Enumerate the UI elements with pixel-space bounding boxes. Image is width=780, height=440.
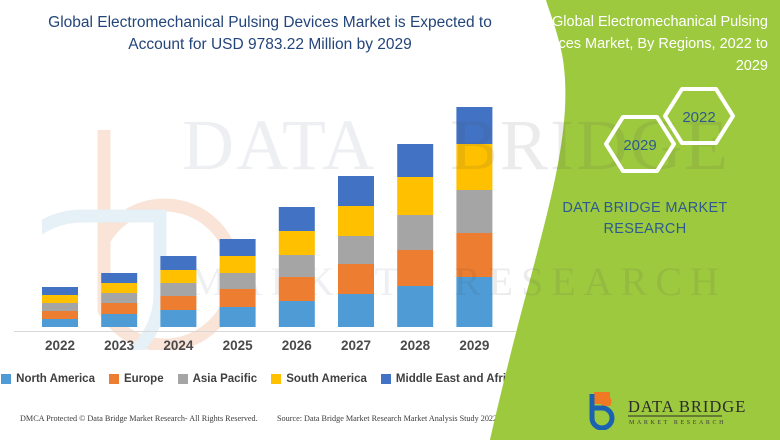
- x-axis-line: [14, 331, 516, 332]
- bar-segment-north-america[interactable]: [279, 301, 315, 327]
- footer: DMCA Protected © Data Bridge Market Rese…: [0, 414, 520, 432]
- chart-panel: Global Electromechanical Pulsing Devices…: [0, 0, 545, 440]
- legend-item-asia-pacific[interactable]: Asia Pacific: [178, 373, 258, 385]
- bar-segment-south-america[interactable]: [279, 231, 315, 255]
- bar-2027[interactable]: [338, 176, 374, 327]
- bar-segment-middle-east-and-africa[interactable]: [397, 144, 433, 177]
- bar-segment-europe[interactable]: [220, 289, 256, 307]
- legend-swatch-icon: [1, 374, 11, 384]
- logo-name-text: DATA BRIDGE: [628, 397, 746, 416]
- footer-source-text: Source: Data Bridge Market Research Mark…: [277, 414, 497, 423]
- legend-swatch-icon: [178, 374, 188, 384]
- x-tick-label-2022: 2022: [30, 338, 90, 353]
- bar-segment-north-america[interactable]: [160, 310, 196, 327]
- watermark-research-text: RESEARCH: [454, 258, 727, 305]
- stacked-bar-chart: 20222023202420252026202720282029: [0, 95, 545, 345]
- bar-segment-middle-east-and-africa[interactable]: [338, 176, 374, 206]
- legend-label: South America: [286, 373, 367, 385]
- x-tick-label-2023: 2023: [89, 338, 149, 353]
- hexagon-2022-label: 2022: [682, 109, 715, 126]
- bar-2022[interactable]: [42, 287, 78, 327]
- bar-segment-middle-east-and-africa[interactable]: [456, 107, 492, 144]
- legend-item-south-america[interactable]: South America: [271, 373, 367, 385]
- x-tick-label-2028: 2028: [385, 338, 445, 353]
- legend-swatch-icon: [381, 374, 391, 384]
- bar-segment-south-america[interactable]: [397, 177, 433, 215]
- bar-segment-north-america[interactable]: [220, 307, 256, 327]
- bar-segment-north-america[interactable]: [338, 294, 374, 327]
- bar-2025[interactable]: [220, 239, 256, 327]
- bar-segment-asia-pacific[interactable]: [338, 236, 374, 264]
- legend-label: Europe: [124, 373, 164, 385]
- bar-segment-north-america[interactable]: [456, 277, 492, 327]
- legend-item-north-america[interactable]: North America: [1, 373, 95, 385]
- bar-segment-middle-east-and-africa[interactable]: [101, 273, 137, 283]
- bar-segment-asia-pacific[interactable]: [42, 303, 78, 311]
- bar-segment-asia-pacific[interactable]: [220, 273, 256, 289]
- bar-segment-middle-east-and-africa[interactable]: [42, 287, 78, 295]
- hexagon-2029-label: 2029: [623, 137, 656, 154]
- bar-2024[interactable]: [160, 256, 196, 327]
- bar-segment-europe[interactable]: [101, 303, 137, 314]
- bar-segment-south-america[interactable]: [220, 256, 256, 273]
- branding-content: BRIDGE RESEARCH Global Electromechanical…: [490, 0, 780, 440]
- legend-swatch-icon: [271, 374, 281, 384]
- bar-segment-asia-pacific[interactable]: [456, 190, 492, 233]
- x-tick-label-2024: 2024: [148, 338, 208, 353]
- chart-plot-area: [0, 95, 545, 331]
- bar-segment-europe[interactable]: [456, 233, 492, 277]
- bar-2026[interactable]: [279, 207, 315, 327]
- bar-segment-south-america[interactable]: [42, 295, 78, 303]
- bar-segment-europe[interactable]: [397, 250, 433, 286]
- bar-segment-south-america[interactable]: [101, 283, 137, 293]
- bar-segment-north-america[interactable]: [42, 319, 78, 327]
- bar-2028[interactable]: [397, 144, 433, 327]
- bar-segment-south-america[interactable]: [338, 206, 374, 236]
- page-title: Global Electromechanical Pulsing Devices…: [30, 12, 510, 57]
- x-tick-label-2027: 2027: [326, 338, 386, 353]
- x-tick-label-2026: 2026: [267, 338, 327, 353]
- bar-segment-middle-east-and-africa[interactable]: [220, 239, 256, 256]
- bar-2029[interactable]: [456, 107, 492, 327]
- footer-dmca-text: DMCA Protected © Data Bridge Market Rese…: [20, 414, 258, 423]
- bar-2023[interactable]: [101, 273, 137, 327]
- bar-segment-north-america[interactable]: [397, 286, 433, 327]
- panel-title: Global Electromechanical Pulsing Devices…: [528, 12, 768, 77]
- bar-segment-asia-pacific[interactable]: [397, 215, 433, 250]
- legend-label: North America: [16, 373, 95, 385]
- bar-segment-middle-east-and-africa[interactable]: [279, 207, 315, 231]
- legend-label: Asia Pacific: [193, 373, 258, 385]
- bar-segment-north-america[interactable]: [101, 314, 137, 327]
- bar-segment-europe[interactable]: [279, 277, 315, 301]
- year-hexagons: 2022 2029: [570, 85, 770, 175]
- bar-segment-asia-pacific[interactable]: [101, 293, 137, 303]
- infographic-root: DATA MARKET Global Electromechanical Pul…: [0, 0, 780, 440]
- branding-panel: BRIDGE RESEARCH Global Electromechanical…: [490, 0, 780, 440]
- bar-segment-europe[interactable]: [160, 296, 196, 310]
- bar-segment-europe[interactable]: [338, 264, 374, 294]
- brand-research-line: DATA BRIDGE MARKET RESEARCH: [520, 198, 770, 240]
- legend-item-europe[interactable]: Europe: [109, 373, 164, 385]
- x-axis-tick-labels: 20222023202420252026202720282029: [0, 338, 545, 362]
- bar-segment-middle-east-and-africa[interactable]: [160, 256, 196, 270]
- bar-segment-south-america[interactable]: [160, 270, 196, 283]
- bar-segment-south-america[interactable]: [456, 144, 492, 190]
- legend-swatch-icon: [109, 374, 119, 384]
- chart-legend: North AmericaEuropeAsia PacificSouth Ame…: [0, 373, 520, 385]
- bar-segment-asia-pacific[interactable]: [279, 255, 315, 277]
- data-bridge-logo: DATA BRIDGE MARKET RESEARCH: [580, 390, 750, 430]
- logo-tagline-text: MARKET RESEARCH: [629, 420, 726, 426]
- bar-segment-asia-pacific[interactable]: [160, 283, 196, 296]
- bar-segment-europe[interactable]: [42, 311, 78, 319]
- x-tick-label-2025: 2025: [208, 338, 268, 353]
